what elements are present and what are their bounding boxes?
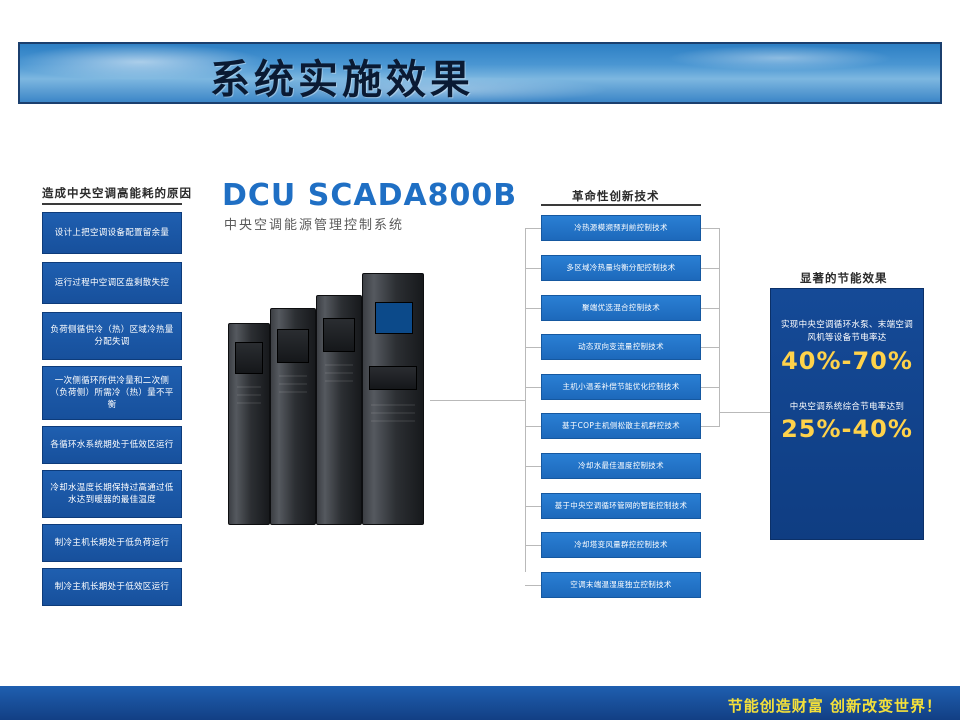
cabinet-unit	[316, 295, 362, 525]
list-item[interactable]: 聚端优选混合控制技术	[541, 295, 701, 321]
connector-line	[430, 400, 525, 401]
connector-line	[525, 308, 541, 309]
connector-line	[701, 228, 719, 229]
tech-column-heading: 革命性创新技术	[572, 188, 660, 204]
list-item[interactable]: 冷却水温度长期保持过高通过低水达到暖器的最佳温度	[42, 470, 182, 518]
list-item[interactable]: 设计上把空调设备配置留余量	[42, 212, 182, 254]
connector-line	[525, 506, 541, 507]
cabinet-unit-main	[362, 273, 424, 525]
cabinet-vent	[325, 364, 353, 366]
list-item[interactable]: 运行过程中空调区盘剩散失控	[42, 262, 182, 304]
footer-slogan: 节能创造财富 创新改变世界！	[728, 695, 942, 716]
connector-line	[701, 387, 719, 388]
effect-block1-value: 40%-70%	[771, 347, 923, 375]
effect-block1-text: 实现中央空调循环水泵、末端空调风机等设备节电率达	[771, 319, 923, 345]
cabinet-vent	[279, 391, 307, 393]
cabinet-vent	[237, 386, 261, 388]
cabinet-panel	[323, 318, 355, 352]
list-item[interactable]: 制冷主机长期处于低效区运行	[42, 568, 182, 606]
tech-column-heading-rule	[541, 204, 701, 206]
cabinet-vent	[237, 402, 261, 404]
cabinet-vent	[371, 412, 415, 414]
list-item[interactable]: 基于COP主机侧松散主机群控技术	[541, 413, 701, 439]
cabinet-vent	[325, 372, 353, 374]
effect-block2-text: 中央空调系统综合节电率达到	[771, 401, 923, 414]
cabinet-vent	[279, 383, 307, 385]
cabinet-display-screen	[375, 302, 413, 334]
connector-line	[525, 268, 541, 269]
list-item[interactable]: 基于中央空调循环管网的智能控制技术	[541, 493, 701, 519]
connector-bracket	[719, 228, 720, 427]
page-title: 系统实施效果	[210, 47, 474, 104]
connector-line	[525, 347, 541, 348]
cabinet-vent	[325, 380, 353, 382]
list-item[interactable]: 空调末端温湿度独立控制技术	[541, 572, 701, 598]
list-item[interactable]: 负荷侧循供冷（热）区域冷热量分配失调	[42, 312, 182, 360]
cabinet-panel	[369, 366, 417, 390]
connector-line	[701, 268, 719, 269]
product-subtitle: 中央空调能源管理控制系统	[224, 214, 404, 233]
slide-footer-bar: 节能创造财富 创新改变世界！	[0, 686, 960, 720]
cabinet-unit	[270, 308, 316, 525]
list-item[interactable]: 动态双向变流量控制技术	[541, 334, 701, 360]
energy-saving-effect-panel: 实现中央空调循环水泵、末端空调风机等设备节电率达 40%-70% 中央空调系统综…	[770, 288, 924, 540]
list-item[interactable]: 冷却水最佳温度控制技术	[541, 453, 701, 479]
left-column-heading-rule	[42, 203, 182, 205]
list-item[interactable]: 多区域冷热量均衡分配控制技术	[541, 255, 701, 281]
equipment-cabinet-illustration	[228, 270, 428, 525]
connector-bracket	[525, 228, 526, 572]
connector-line	[525, 466, 541, 467]
cabinet-vent	[237, 394, 261, 396]
connector-line	[525, 426, 541, 427]
list-item[interactable]: 冷热源模溯预判前控制技术	[541, 215, 701, 241]
effect-panel-heading: 显著的节能效果	[800, 270, 888, 286]
connector-line	[701, 347, 719, 348]
cabinet-vent	[279, 375, 307, 377]
product-name: DCU SCADA800B	[222, 178, 517, 213]
slide-title-bar: 系统实施效果	[18, 42, 942, 104]
effect-block2-value: 25%-40%	[771, 415, 923, 443]
cabinet-unit	[228, 323, 270, 525]
cabinet-panel	[235, 342, 263, 374]
cabinet-vent	[371, 420, 415, 422]
connector-line	[525, 545, 541, 546]
cabinet-vent	[371, 404, 415, 406]
list-item[interactable]: 各循环水系统期处于低效区运行	[42, 426, 182, 464]
cabinet-panel	[277, 329, 309, 363]
list-item[interactable]: 主机小温差补偿节能优化控制技术	[541, 374, 701, 400]
list-item[interactable]: 冷却塔变风量群控控制技术	[541, 532, 701, 558]
left-column-heading: 造成中央空调高能耗的原因	[42, 185, 192, 201]
list-item[interactable]: 制冷主机长期处于低负荷运行	[42, 524, 182, 562]
connector-line	[701, 426, 719, 427]
connector-line	[525, 585, 541, 586]
connector-line	[525, 228, 541, 229]
connector-line	[701, 308, 719, 309]
connector-line	[719, 412, 770, 413]
connector-line	[525, 387, 541, 388]
list-item[interactable]: 一次侧循环所供冷量和二次侧（负荷侧）所需冷（热）量不平衡	[42, 366, 182, 420]
